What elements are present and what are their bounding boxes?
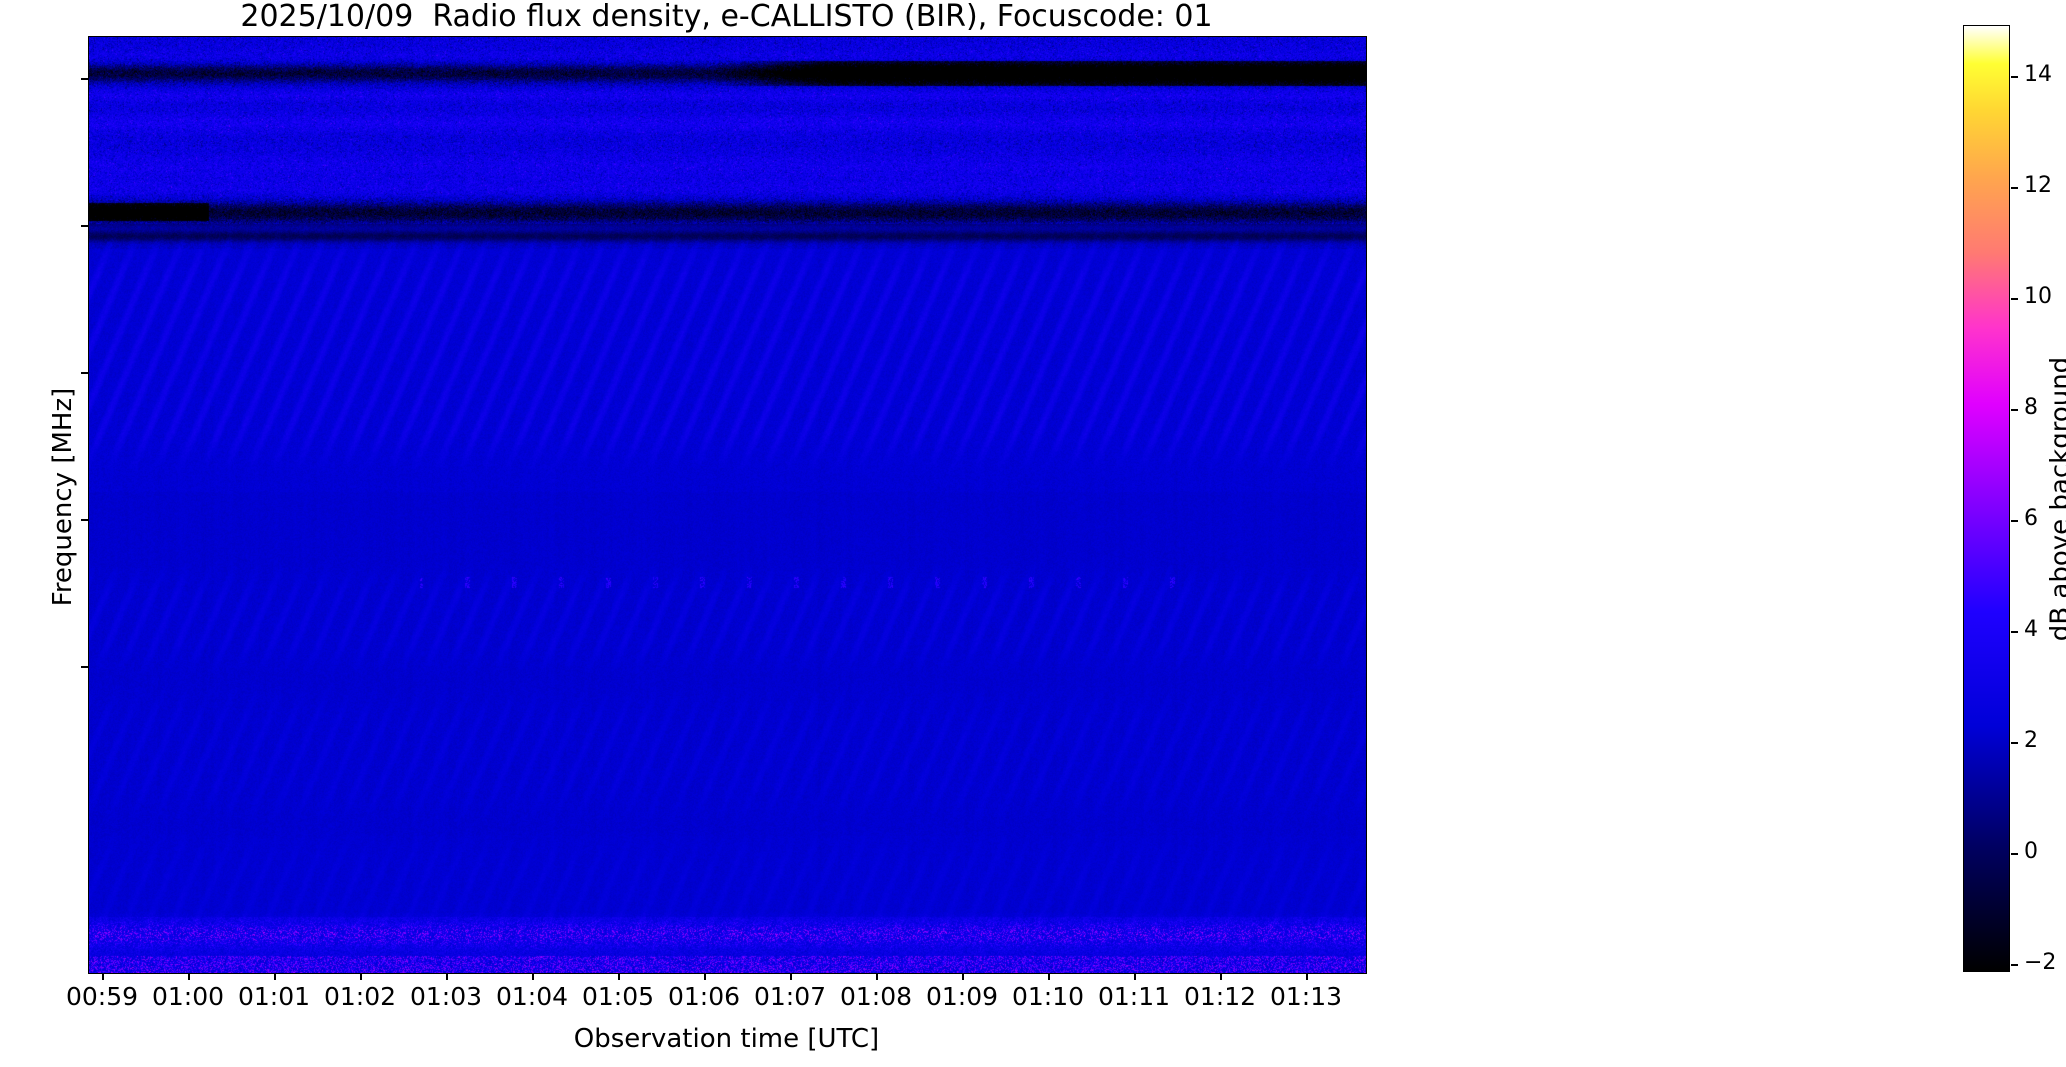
colorbar-tick-mark [2011, 742, 2018, 744]
x-tick-mark [618, 973, 620, 980]
colorbar-tick-label: 2 [2024, 728, 2038, 753]
x-tick-mark [704, 973, 706, 980]
page-title: 2025/10/09 Radio flux density, e-CALLIST… [88, 0, 1365, 34]
colorbar-tick-mark [2011, 76, 2018, 78]
x-tick-mark [532, 973, 534, 980]
spectrogram-canvas[interactable] [89, 37, 1366, 973]
y-tick-mark [81, 78, 88, 80]
colorbar-tick-label: 0 [2024, 839, 2038, 864]
y-tick-mark [81, 666, 88, 668]
colorbar-tick-mark [2011, 964, 2018, 966]
colorbar-tick-label: 4 [2024, 617, 2038, 642]
y-axis-label: Frequency [MHz] [48, 29, 78, 965]
x-tick-label: 01:13 [1246, 982, 1366, 1011]
y-tick-mark [81, 519, 88, 521]
colorbar-tick-mark [2011, 298, 2018, 300]
colorbar-gradient [1964, 26, 2009, 971]
x-tick-mark [1048, 973, 1050, 980]
x-tick-mark [876, 973, 878, 980]
spectrogram-plot[interactable] [88, 36, 1367, 974]
x-tick-mark [102, 973, 104, 980]
y-tick-mark [81, 372, 88, 374]
x-tick-mark [1134, 973, 1136, 980]
colorbar[interactable] [1963, 25, 2010, 972]
x-tick-mark [790, 973, 792, 980]
x-tick-mark [1220, 973, 1222, 980]
colorbar-tick-label: 6 [2024, 506, 2038, 531]
colorbar-tick-mark [2011, 853, 2018, 855]
x-tick-mark [188, 973, 190, 980]
x-tick-mark [446, 973, 448, 980]
x-tick-mark [962, 973, 964, 980]
y-tick-mark [81, 225, 88, 227]
colorbar-tick-mark [2011, 520, 2018, 522]
x-tick-mark [360, 973, 362, 980]
x-tick-mark [274, 973, 276, 980]
figure-root: 2025/10/09 Radio flux density, e-CALLIST… [0, 0, 2066, 1067]
x-tick-mark [1306, 973, 1308, 980]
colorbar-tick-mark [2011, 409, 2018, 411]
colorbar-tick-label: 8 [2024, 395, 2038, 420]
colorbar-tick-mark [2011, 631, 2018, 633]
colorbar-tick-mark [2011, 187, 2018, 189]
colorbar-label: dB above background [2046, 26, 2066, 973]
x-axis-label: Observation time [UTC] [88, 1024, 1365, 1054]
